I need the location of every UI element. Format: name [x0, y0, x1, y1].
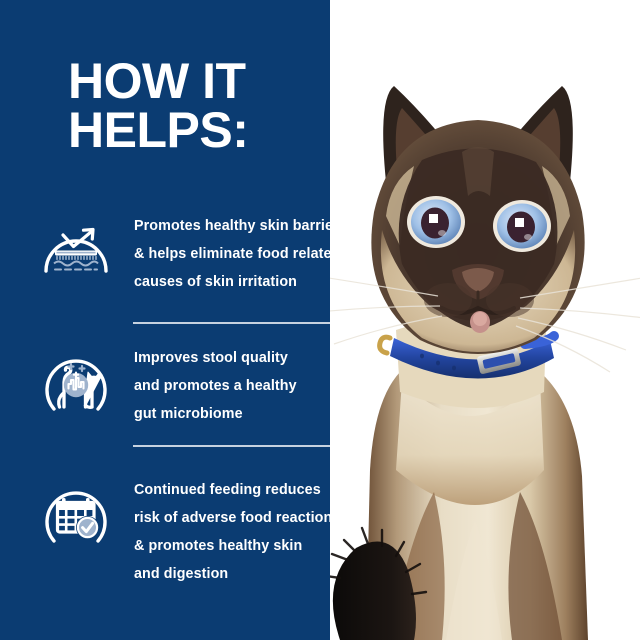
benefit-text-skin-barrier: Promotes healthy skin barrier & helps el…	[134, 213, 340, 297]
benefit-line: Continued feeding reduces	[134, 477, 340, 505]
benefit-line: and digestion	[134, 561, 340, 589]
benefit-line: Promotes healthy skin barrier	[134, 213, 340, 241]
benefit-line: gut microbiome	[134, 401, 297, 429]
benefit-line: causes of skin irritation	[134, 269, 340, 297]
benefit-line: Improves stool quality	[134, 345, 297, 373]
page-title: HOW IT HELPS:	[68, 57, 368, 155]
promo-graphic: HOW IT HELPS:	[0, 0, 640, 640]
divider	[133, 322, 333, 324]
benefit-item-gut-microbiome: Improves stool quality and promotes a he…	[40, 345, 360, 429]
benefit-line: & helps eliminate food related	[134, 241, 340, 269]
headline-line-2: HELPS:	[68, 106, 368, 155]
headline-line-1: HOW IT	[68, 57, 368, 106]
benefit-text-gut-microbiome: Improves stool quality and promotes a he…	[134, 345, 297, 429]
benefit-item-skin-barrier: Promotes healthy skin barrier & helps el…	[40, 213, 360, 297]
benefit-item-continued-feeding: Continued feeding reduces risk of advers…	[40, 477, 360, 589]
skin-barrier-icon	[40, 215, 112, 287]
cat-photo	[330, 0, 640, 640]
divider	[133, 445, 333, 447]
benefit-line: & promotes healthy skin	[134, 533, 340, 561]
gut-microbiome-cat-icon	[40, 347, 112, 419]
benefit-text-continued-feeding: Continued feeding reduces risk of advers…	[134, 477, 340, 589]
benefit-line: and promotes a healthy	[134, 373, 297, 401]
calendar-check-icon	[40, 479, 112, 551]
benefit-line: risk of adverse food reactions	[134, 505, 340, 533]
